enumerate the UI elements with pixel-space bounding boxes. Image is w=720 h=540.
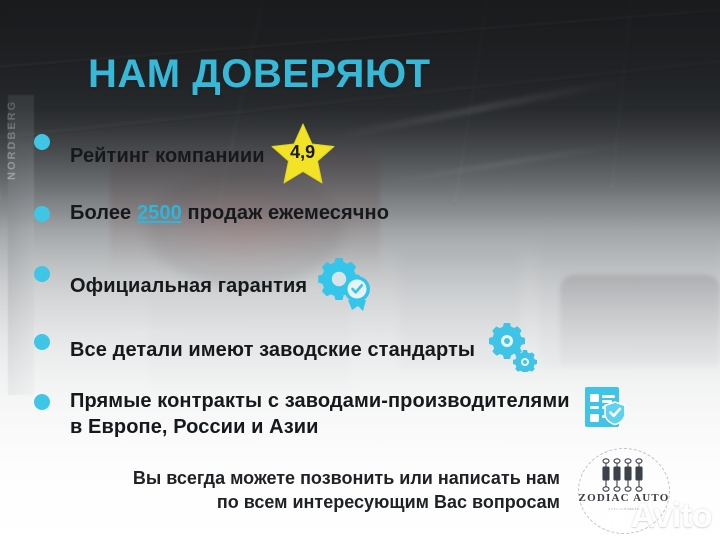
list-item: Рейтинг компаниии 4,9 — [34, 128, 694, 184]
slide-content: НАМ ДОВЕРЯЮТ Рейтинг компаниии 4,9 — [0, 0, 720, 540]
avito-logo-icon — [599, 502, 629, 532]
gears-shape-icon — [487, 322, 539, 372]
contracts-line-1: Прямые контракты с заводами-производител… — [70, 390, 570, 412]
bullet-dot-icon — [34, 266, 50, 282]
star-rating-icon: 4,9 — [271, 122, 335, 184]
benefit-label-sales: Более 2500 продаж ежемесячно — [70, 200, 389, 226]
bullet-dot-icon — [34, 134, 50, 150]
bullet-dot-icon — [34, 206, 50, 222]
gears-icon — [487, 322, 539, 372]
benefit-label-contracts: Прямые контракты с заводами-производител… — [70, 388, 570, 441]
list-item: Все детали имеют заводские стандарты — [34, 328, 694, 372]
benefits-list: Рейтинг компаниии 4,9 Более 2500 — [34, 128, 694, 441]
benefit-label-rating: Рейтинг компаниии — [70, 143, 265, 169]
contracts-line-2: в Европе, России и Азии — [70, 416, 319, 438]
list-item: Прямые контракты с заводами-производител… — [34, 388, 694, 441]
gear-award-icon — [315, 256, 377, 312]
list-item: Более 2500 продаж ежемесячно — [34, 200, 694, 244]
sales-text-before: Более — [70, 202, 137, 224]
footer-line-2: по всем интересующим Вас вопросам — [60, 490, 560, 514]
sales-count-value: 2500 — [137, 202, 182, 224]
page-title: НАМ ДОВЕРЯЮТ — [88, 52, 431, 97]
footer-line-1: Вы всегда можете позвонить или написать … — [60, 466, 560, 490]
sales-text-after: продаж ежемесячно — [182, 202, 389, 224]
benefit-label-standards: Все детали имеют заводские стандарты — [70, 337, 475, 363]
document-shield-icon — [582, 384, 628, 430]
shock-absorbers-shape-icon — [599, 457, 649, 497]
rating-value: 4,9 — [271, 142, 335, 163]
benefit-label-warranty: Официальная гарантия — [70, 273, 307, 299]
avito-label: Avito — [631, 497, 712, 536]
bullet-dot-icon — [34, 394, 50, 410]
avito-watermark: Avito — [599, 497, 712, 536]
promo-slide: NORDBERG НАМ ДОВЕРЯЮТ Рейтинг компаниии … — [0, 0, 720, 540]
bullet-dot-icon — [34, 334, 50, 350]
document-shield-shape-icon — [582, 384, 628, 430]
list-item: Официальная гарантия — [34, 260, 694, 312]
footer-message: Вы всегда можете позвонить или написать … — [60, 466, 560, 515]
gear-award-shape-icon — [315, 256, 377, 312]
